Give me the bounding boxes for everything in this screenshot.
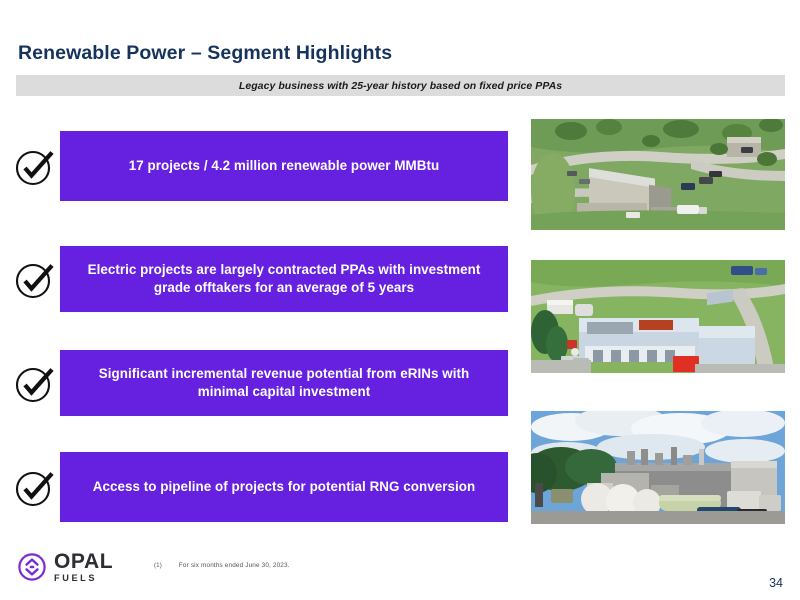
highlight-text: 17 projects / 4.2 million renewable powe…: [129, 157, 439, 176]
logo-wordmark: OPAL FUELS: [54, 551, 113, 583]
aerial-facility-photo-1: [531, 119, 785, 230]
logo-primary-text: OPAL: [54, 551, 113, 572]
check-circle-icon: [12, 360, 58, 406]
ground-facility-photo-3: [531, 411, 785, 524]
logo-secondary-text: FUELS: [54, 574, 113, 583]
footnote-text: For six months ended June 30, 2023.: [179, 562, 290, 569]
highlight-box: Access to pipeline of projects for poten…: [60, 452, 508, 522]
highlight-box: Electric projects are largely contracted…: [60, 246, 508, 312]
highlights-list: 17 projects / 4.2 million renewable powe…: [0, 0, 520, 600]
check-circle-icon: [12, 143, 58, 189]
page-number: 34: [769, 576, 783, 590]
highlight-row: 17 projects / 4.2 million renewable powe…: [0, 131, 520, 201]
highlight-box: Significant incremental revenue potentia…: [60, 350, 508, 416]
slide-canvas: Renewable Power – Segment Highlights Leg…: [0, 0, 800, 600]
opal-circle-logo-icon: [17, 552, 47, 582]
footnote: (1) For six months ended June 30, 2023.: [154, 562, 290, 569]
highlight-text: Access to pipeline of projects for poten…: [93, 478, 475, 497]
highlight-text: Electric projects are largely contracted…: [82, 261, 486, 298]
opal-fuels-logo: OPAL FUELS: [17, 551, 113, 583]
aerial-facility-photo-2: [531, 260, 785, 373]
highlight-row: Access to pipeline of projects for poten…: [0, 452, 520, 522]
check-circle-icon: [12, 256, 58, 302]
footnote-marker: (1): [154, 562, 162, 569]
highlight-row: Significant incremental revenue potentia…: [0, 350, 520, 416]
highlight-row: Electric projects are largely contracted…: [0, 246, 520, 312]
highlight-text: Significant incremental revenue potentia…: [82, 365, 486, 402]
check-circle-icon: [12, 464, 58, 510]
highlight-box: 17 projects / 4.2 million renewable powe…: [60, 131, 508, 201]
